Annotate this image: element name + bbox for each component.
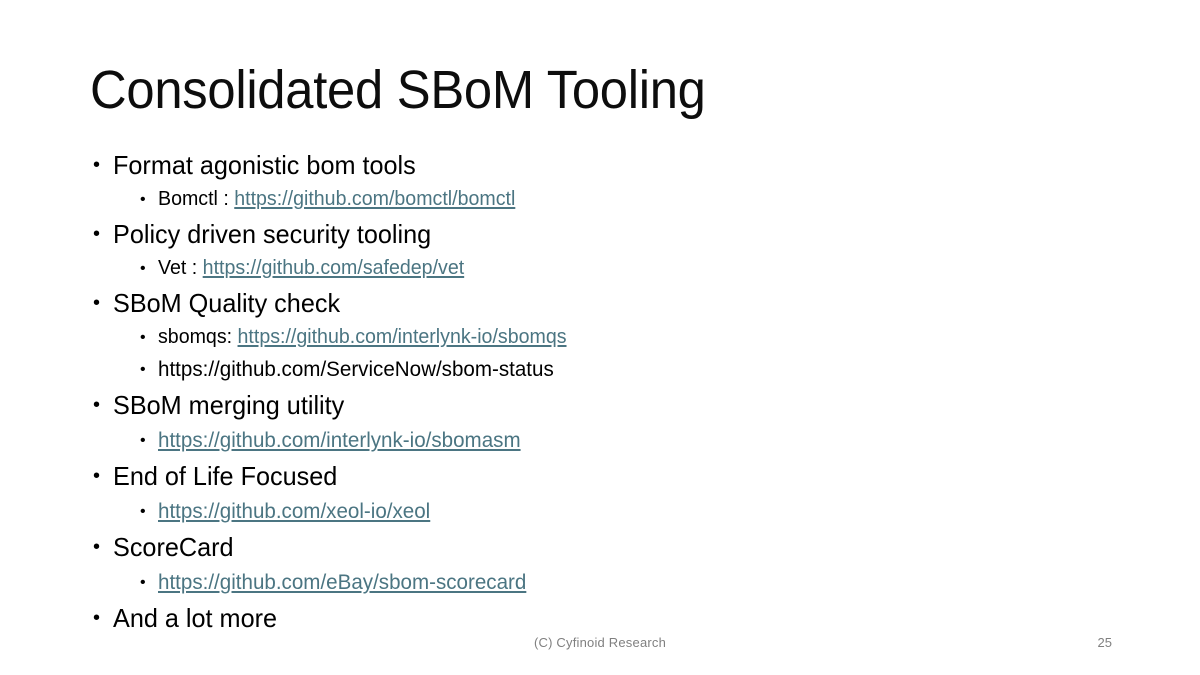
bullet-list-level2: sbomqs: https://github.com/interlynk-io/… bbox=[90, 322, 1120, 386]
bullet-level2-label: Bomctl : bbox=[158, 188, 234, 210]
slide-canvas: Consolidated SBoM Tooling Format agonist… bbox=[0, 0, 1200, 675]
bullet-level2-label: Vet : bbox=[158, 257, 203, 279]
bullet-level2: Vet : https://github.com/safedep/vet bbox=[90, 253, 1120, 284]
bullet-level2: https://github.com/ServiceNow/sbom-statu… bbox=[90, 353, 1120, 386]
bullet-list-container: Format agonistic bom toolsBomctl : https… bbox=[90, 146, 1120, 637]
bullet-level2-content: https://github.com/eBay/sbom-scorecard bbox=[158, 566, 526, 599]
bullet-level1: And a lot more bbox=[90, 599, 1120, 637]
bullet-level2-content: https://github.com/xeol-io/xeol bbox=[158, 495, 430, 528]
bullet-level1-label: Format agonistic bom tools bbox=[113, 146, 416, 184]
bullet-list-level2: https://github.com/xeol-io/xeol bbox=[90, 495, 1120, 528]
bullet-level1-label: ScoreCard bbox=[113, 528, 234, 566]
bullet-level1: SBoM Quality check bbox=[90, 284, 1120, 322]
bullet-level1: Format agonistic bom tools bbox=[90, 146, 1120, 184]
bullet-level2-group: https://github.com/xeol-io/xeol bbox=[90, 495, 1120, 528]
bullet-level2-group: https://github.com/eBay/sbom-scorecard bbox=[90, 566, 1120, 599]
bullet-level2: https://github.com/interlynk-io/sbomasm bbox=[90, 424, 1120, 457]
bullet-level2-content: https://github.com/ServiceNow/sbom-statu… bbox=[158, 353, 554, 386]
external-link[interactable]: https://github.com/eBay/sbom-scorecard bbox=[158, 571, 526, 594]
bullet-level2-group: Vet : https://github.com/safedep/vet bbox=[90, 253, 1120, 284]
bullet-level2-label: sbomqs: bbox=[158, 326, 238, 348]
bullet-level1-label: SBoM Quality check bbox=[113, 284, 340, 322]
bullet-level2-content: Bomctl : https://github.com/bomctl/bomct… bbox=[158, 184, 515, 215]
bullet-level1: End of Life Focused bbox=[90, 457, 1120, 495]
bullet-level2: Bomctl : https://github.com/bomctl/bomct… bbox=[90, 184, 1120, 215]
bullet-level1: SBoM merging utility bbox=[90, 386, 1120, 424]
bullet-level1-label: SBoM merging utility bbox=[113, 386, 344, 424]
bullet-level2: https://github.com/xeol-io/xeol bbox=[90, 495, 1120, 528]
bullet-level1: Policy driven security tooling bbox=[90, 215, 1120, 253]
bullet-level2-group: Bomctl : https://github.com/bomctl/bomct… bbox=[90, 184, 1120, 215]
bullet-level2: https://github.com/eBay/sbom-scorecard bbox=[90, 566, 1120, 599]
bullet-level2-content: sbomqs: https://github.com/interlynk-io/… bbox=[158, 322, 567, 353]
external-link[interactable]: https://github.com/safedep/vet bbox=[203, 257, 464, 279]
bullet-list-level2: Bomctl : https://github.com/bomctl/bomct… bbox=[90, 184, 1120, 215]
page-title: Consolidated SBoM Tooling bbox=[90, 62, 1049, 119]
footer-copyright: (C) Cyfinoid Research bbox=[0, 635, 1200, 650]
bullet-level1-label: And a lot more bbox=[113, 599, 277, 637]
bullet-level1: ScoreCard bbox=[90, 528, 1120, 566]
external-link[interactable]: https://github.com/interlynk-io/sbomqs bbox=[238, 326, 567, 348]
url-plain-text: https://github.com/ServiceNow/sbom-statu… bbox=[158, 358, 554, 381]
bullet-level2: sbomqs: https://github.com/interlynk-io/… bbox=[90, 322, 1120, 353]
bullet-list-level2: Vet : https://github.com/safedep/vet bbox=[90, 253, 1120, 284]
bullet-list-level2: https://github.com/interlynk-io/sbomasm bbox=[90, 424, 1120, 457]
external-link[interactable]: https://github.com/xeol-io/xeol bbox=[158, 500, 430, 523]
bullet-level1-label: End of Life Focused bbox=[113, 457, 337, 495]
bullet-level2-content: Vet : https://github.com/safedep/vet bbox=[158, 253, 464, 284]
bullet-level2-group: sbomqs: https://github.com/interlynk-io/… bbox=[90, 322, 1120, 386]
bullet-level2-content: https://github.com/interlynk-io/sbomasm bbox=[158, 424, 521, 457]
slide-page-number: 25 bbox=[1098, 635, 1112, 650]
external-link[interactable]: https://github.com/interlynk-io/sbomasm bbox=[158, 429, 521, 452]
bullet-level1-label: Policy driven security tooling bbox=[113, 215, 431, 253]
external-link[interactable]: https://github.com/bomctl/bomctl bbox=[234, 188, 515, 210]
bullet-list-level2: https://github.com/eBay/sbom-scorecard bbox=[90, 566, 1120, 599]
bullet-level2-group: https://github.com/interlynk-io/sbomasm bbox=[90, 424, 1120, 457]
bullet-list-level1: Format agonistic bom toolsBomctl : https… bbox=[90, 146, 1120, 637]
